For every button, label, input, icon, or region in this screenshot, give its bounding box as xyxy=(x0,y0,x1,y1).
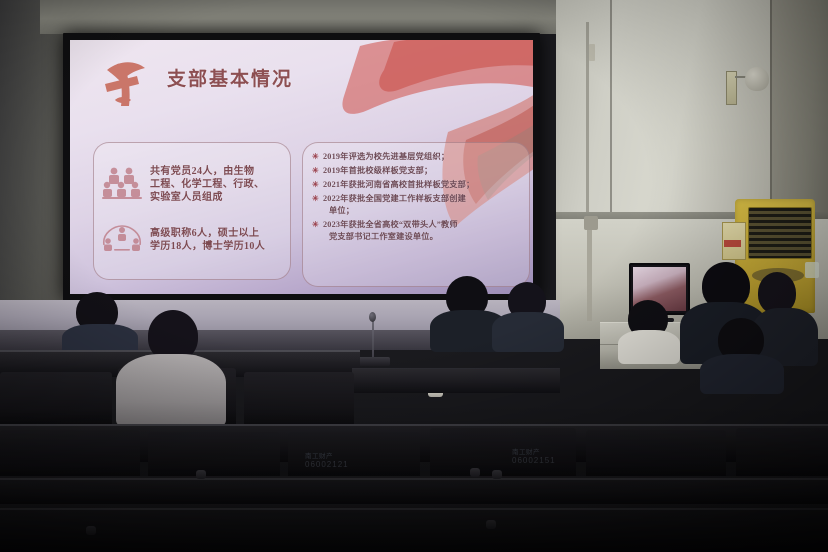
hammer-and-sickle-icon xyxy=(97,54,155,116)
slide-title: 支部基本情况 xyxy=(167,64,293,91)
bullet-star-icon: ✳ xyxy=(312,193,319,205)
seat-knob xyxy=(470,468,480,477)
seat-asset-tag: 南工财产 06002121 xyxy=(305,450,349,469)
seat[interactable] xyxy=(736,428,828,480)
seat-row-front-2[interactable] xyxy=(0,476,828,506)
seat[interactable] xyxy=(586,430,726,480)
seat-row-front-3[interactable] xyxy=(0,504,828,552)
seat[interactable] xyxy=(0,372,112,428)
bullet-star-icon: ✳ xyxy=(312,219,319,231)
seat-row-rail-1 xyxy=(0,424,828,426)
list-item: ✳ 2023年获批全省高校“双带头人”教师 党支部书记工作室建设单位。 xyxy=(311,219,523,244)
woman-ponytail-gray-blazer xyxy=(116,310,226,420)
seat-knob xyxy=(486,520,496,529)
party-members-circle-icon xyxy=(100,223,144,253)
bullet-star-icon: ✳ xyxy=(312,151,319,163)
seat[interactable] xyxy=(148,432,280,480)
group-of-people-icon xyxy=(102,165,142,199)
person-right-foreground xyxy=(700,318,784,388)
list-item: ✳ 2019年首批校级样板党支部； xyxy=(311,165,523,177)
wall-seam-a xyxy=(610,0,612,212)
ceiling-speaker-icon xyxy=(745,67,769,91)
door-handle[interactable] xyxy=(589,44,595,61)
seat-row-rail-2 xyxy=(0,478,828,480)
microphone-base[interactable] xyxy=(356,357,390,366)
person-center-back-2 xyxy=(492,282,564,348)
left-wall xyxy=(0,0,70,330)
ceiling-band xyxy=(40,0,570,34)
air-conditioner-grille xyxy=(748,207,812,259)
bullet-star-icon: ✳ xyxy=(312,165,319,177)
presentation-room-photo: 支部基本情况 共有党 xyxy=(0,0,828,552)
projection-screen: 支部基本情况 共有党 xyxy=(63,33,540,301)
seat-row-rail-3 xyxy=(0,508,828,510)
microphone-head-icon xyxy=(369,312,376,322)
list-item: ✳ 2019年评选为校先进基层党组织； xyxy=(311,151,523,163)
door-latch[interactable] xyxy=(584,216,598,230)
slide-right-box: ✳ 2019年评选为校先进基层党组织； ✳ 2019年首批校级样板党支部； ✳ … xyxy=(302,142,530,287)
achievements-list: ✳ 2019年评选为校先进基层党组织； ✳ 2019年首批校级样板党支部； ✳ … xyxy=(311,151,523,245)
left-box-item-1-text: 高级职称6人，硕士以上 学历18人，博士学历10人 xyxy=(150,227,286,253)
person-right-front xyxy=(618,300,680,358)
seat-knob xyxy=(196,470,206,479)
seat-knob xyxy=(86,526,96,535)
list-item: ✳ 2022年获批全国党建工作样板支部创建 单位； xyxy=(311,193,523,218)
list-item: ✳ 2021年获批河南省高校首批样板党支部； xyxy=(311,179,523,191)
slide-left-box: 共有党员24人，由生物 工程、化学工程、行政、 实验室人员组成 xyxy=(93,142,291,280)
microphone-stem xyxy=(372,318,374,360)
seat[interactable] xyxy=(0,430,140,480)
wall-notice-red-strip xyxy=(724,240,741,247)
door-post xyxy=(587,216,592,321)
desk-row-back-center xyxy=(352,368,560,393)
seat[interactable] xyxy=(244,372,354,430)
seat-asset-tag: 南工财产 06002151 xyxy=(512,446,556,465)
bullet-star-icon: ✳ xyxy=(312,179,319,191)
left-box-item-0-text: 共有党员24人，由生物 工程、化学工程、行政、 实验室人员组成 xyxy=(150,165,286,204)
seat-knob xyxy=(492,470,502,479)
projected-slide: 支部基本情况 共有党 xyxy=(70,40,533,294)
